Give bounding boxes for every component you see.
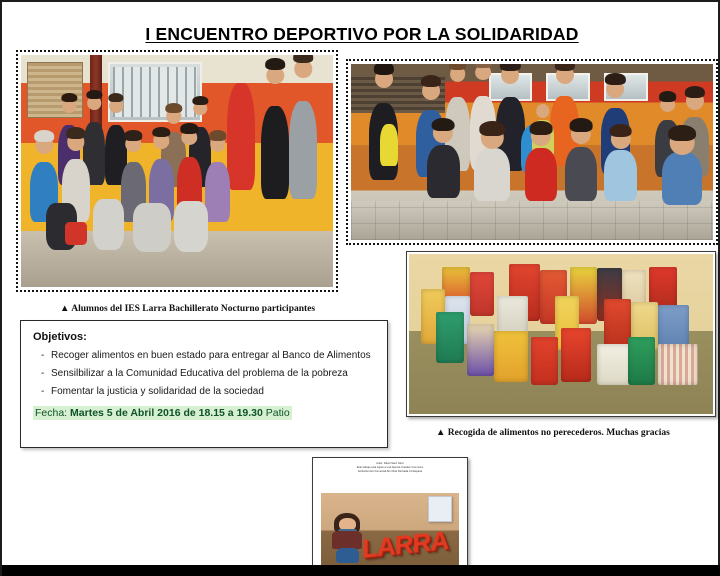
bullet-dash-icon: -	[41, 385, 44, 398]
objectives-list: - Recoger alimentos en buen estado para …	[33, 349, 375, 399]
objective-item-text: Recoger alimentos en buen estado para en…	[51, 350, 371, 361]
caption-students-left: ▲ Alumnos del IES Larra Bachillerato Noc…	[60, 304, 315, 314]
photo-students-left[interactable]	[16, 50, 338, 292]
bullet-dash-icon: -	[41, 349, 44, 362]
objective-item-text: Fomentar la justicia y solidaridad de la…	[51, 386, 264, 397]
bottom-bar	[2, 565, 720, 576]
larra-figure	[329, 513, 365, 563]
fecha-place: Patio	[266, 407, 290, 419]
objective-item: - Fomentar la justicia y solidaridad de …	[33, 385, 375, 398]
slide-canvas: I ENCUENTRO DEPORTIVO POR LA SOLIDARIDAD	[0, 0, 720, 576]
photo-food-donation-image	[409, 254, 713, 414]
bullet-dash-icon: -	[41, 367, 44, 380]
caption-food-donation: ▲ Recogida de alimentos no perecederos. …	[436, 428, 670, 438]
photo-food-donation[interactable]	[406, 251, 716, 417]
photo-students-right[interactable]	[346, 59, 718, 245]
photo-larra-logo[interactable]: Autor: David Sanz Sanz Este trabajo esta…	[312, 457, 468, 572]
photo-larra-logo-image: Autor: David Sanz Sanz Este trabajo esta…	[315, 460, 465, 569]
larra-credit-text: Autor: David Sanz Sanz Este trabajo esta…	[315, 462, 465, 473]
fecha-label: Fecha:	[35, 407, 67, 419]
fecha-line: Fecha: Martes 5 de Abril 2016 de 18.15 a…	[33, 407, 375, 419]
objective-item-text: Sensilbilizar a la Comunidad Educativa d…	[51, 368, 348, 379]
fecha-value: Martes 5 de Abril 2016 de 18.15 a 19.30	[70, 407, 263, 419]
objectives-box: Objetivos: - Recoger alimentos en buen e…	[20, 320, 388, 448]
objective-item: - Sensilbilizar a la Comunidad Educativa…	[33, 367, 375, 380]
objectives-heading: Objetivos:	[33, 331, 375, 343]
photo-students-right-image	[351, 64, 713, 240]
larra-wordmark: LARRA	[362, 525, 453, 563]
page-title: I ENCUENTRO DEPORTIVO POR LA SOLIDARIDAD	[2, 24, 720, 45]
photo-students-left-image	[21, 55, 333, 287]
objective-item: - Recoger alimentos en buen estado para …	[33, 349, 375, 362]
paper-icon	[428, 496, 452, 522]
